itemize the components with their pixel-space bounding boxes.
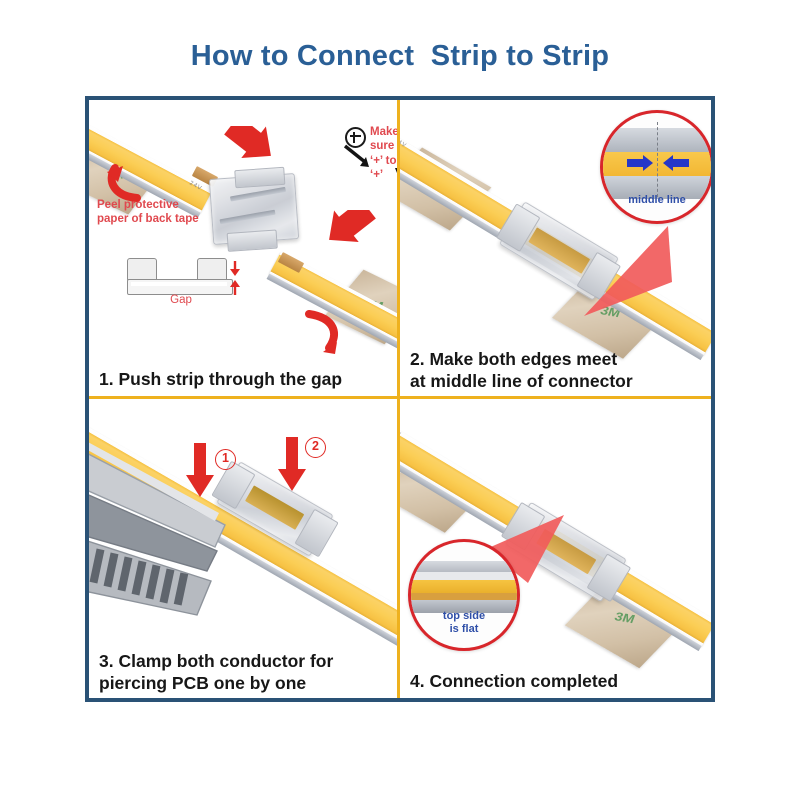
gap-channel-inner-slot xyxy=(131,282,227,286)
mag-led-layer xyxy=(408,580,520,593)
clamp-step-badge-1: 1 xyxy=(215,449,236,470)
polarity-note: Make sure ‘+’ to ‘+’ xyxy=(370,125,397,183)
peel-curve-arrow-right xyxy=(301,310,345,356)
panel-4-illustration: 3M 3M 24V xyxy=(400,399,711,698)
steps-grid: 3M 24V Peel pro xyxy=(85,96,715,702)
mag-copper-layer xyxy=(408,593,520,600)
clamp-step-badge-2: 2 xyxy=(305,437,326,458)
gap-label: Gap xyxy=(125,294,237,306)
instruction-graphic: How to Connect Strip to Strip 3M 24V xyxy=(0,0,800,800)
panel-2-caption: 2. Make both edges meet at middle line o… xyxy=(410,349,705,392)
connector-wing-bottom xyxy=(227,229,278,251)
magnifier-content: middle line xyxy=(603,113,711,221)
panel-step-3: 1 2 3. Clamp both conductor for piercing… xyxy=(89,399,400,698)
panel-4-caption: 4. Connection completed xyxy=(410,671,705,692)
magnifier-content: top side is flat xyxy=(411,542,517,648)
peel-note: Peel protective paper of back tape xyxy=(97,198,199,227)
push-arrow-right xyxy=(323,210,377,258)
mag-connector-shell-top xyxy=(408,561,520,572)
gap-diagram: Gap xyxy=(125,258,237,310)
magnifier-label: top side is flat xyxy=(411,610,517,636)
connector-wing-top xyxy=(234,167,285,188)
panel-step-2: 3M 3M 24V xyxy=(400,100,711,399)
peel-curve-arrow-left xyxy=(103,156,145,202)
page-title: How to Connect Strip to Strip xyxy=(0,40,800,73)
panel-1-illustration: 3M 24V Peel pro xyxy=(89,100,397,396)
callout-pointer-icon xyxy=(582,222,674,318)
magnifier-label: middle line xyxy=(603,194,711,207)
magnifier-top-side-flat: top side is flat xyxy=(408,539,520,651)
panel-step-4: 3M 3M 24V xyxy=(400,399,711,698)
circled-plus-top-icon xyxy=(345,127,366,148)
mag-connector-top xyxy=(600,128,711,152)
clamp-arrow-1 xyxy=(185,443,215,499)
connector-clip xyxy=(209,173,299,245)
magnifier-middle-line: middle line xyxy=(600,110,711,224)
mag-pcb-top xyxy=(408,572,520,580)
panel-1-caption: 1. Push strip through the gap xyxy=(99,369,391,390)
clamp-arrow-2 xyxy=(277,437,307,493)
panel-3-caption: 3. Clamp both conductor for piercing PCB… xyxy=(99,651,391,694)
mag-inward-arrows xyxy=(625,153,691,173)
panel-step-1: 3M 24V Peel pro xyxy=(89,100,400,399)
gap-height-arrows xyxy=(227,260,243,296)
